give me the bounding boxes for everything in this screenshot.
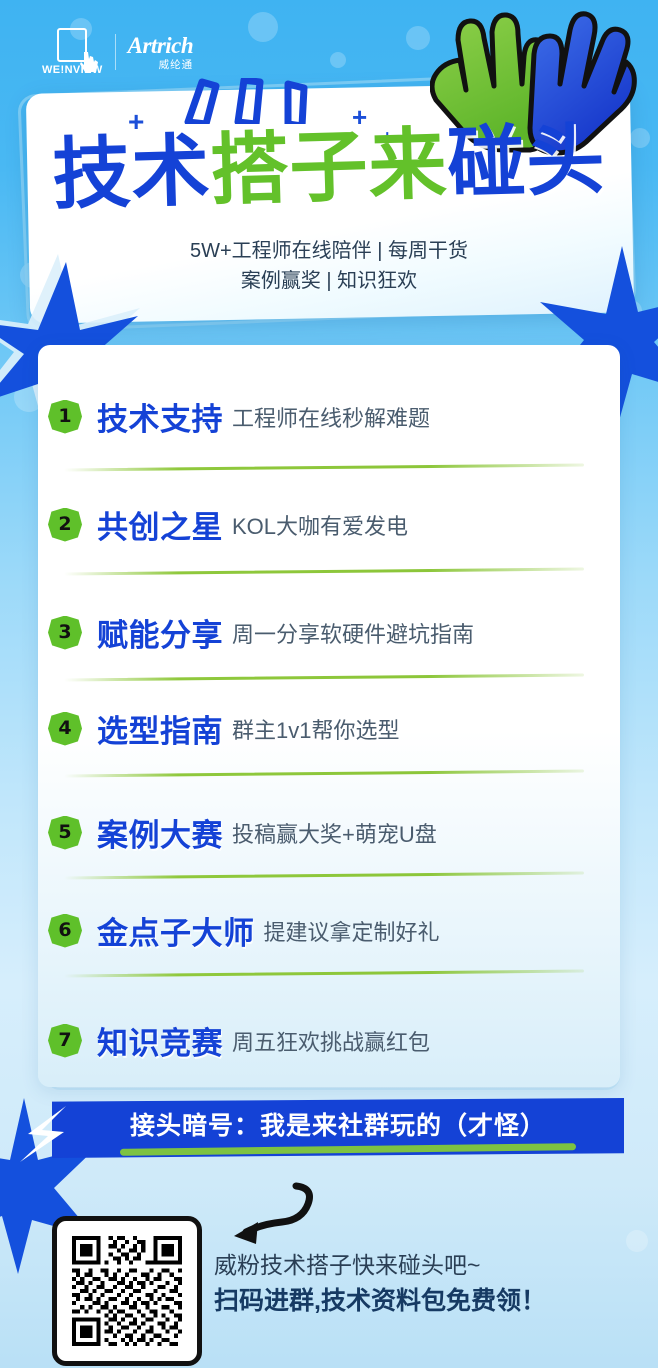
item-number: 5 [58, 823, 71, 842]
sparkle-marks-icon [176, 78, 336, 129]
cta-line-1: 威粉技术搭子快来碰头吧~ [214, 1250, 546, 1281]
item-number-badge: 1 [48, 400, 82, 434]
cta-text-block: 威粉技术搭子快来碰头吧~ 扫码进群,技术资料包免费领！ [214, 1250, 546, 1319]
brand-logo: WE!NVIEW Artrich 威纶通 [42, 28, 193, 76]
item-title: 选型指南 [97, 706, 223, 751]
item-title: 技术支持 [97, 394, 223, 439]
bokeh-dot [330, 52, 346, 68]
list-item[interactable]: 5 案例大赛 投稿赢大奖+萌宠U盘 [0, 810, 582, 855]
subtitle-line-1: 5W+工程师在线陪伴 | 每周干货 [0, 236, 658, 266]
item-title: 共创之星 [97, 502, 223, 547]
qr-code[interactable] [52, 1216, 202, 1366]
subtitle-line-2: 案例赢奖 | 知识狂欢 [0, 266, 658, 296]
item-number-badge: 7 [48, 1024, 82, 1058]
logo-divider [115, 34, 116, 70]
bokeh-dot [626, 1230, 648, 1252]
title-segment-3: 碰头 [446, 115, 606, 207]
item-number: 6 [58, 921, 71, 940]
item-desc: 投稿赢大奖+萌宠U盘 [232, 817, 437, 849]
item-desc: 提建议拿定制好礼 [264, 915, 440, 947]
item-number-badge: 4 [48, 712, 82, 746]
item-desc: 周一分享软硬件避坑指南 [232, 617, 474, 649]
poster-canvas: WE!NVIEW Artrich 威纶通 [0, 0, 658, 1368]
cursor-hand-icon [80, 50, 102, 74]
item-number: 3 [58, 623, 71, 642]
list-item[interactable]: 1 技术支持 工程师在线秒解难题 [0, 394, 582, 439]
list-item[interactable]: 2 共创之星 KOL大咖有爱发电 [0, 502, 582, 547]
item-desc: 周五狂欢挑战赢红包 [232, 1025, 430, 1057]
cta-line-2: 扫码进群,技术资料包免费领！ [214, 1285, 546, 1319]
item-number: 7 [58, 1031, 71, 1050]
item-number-badge: 6 [48, 914, 82, 948]
item-number: 1 [58, 407, 71, 426]
item-title: 知识竞赛 [97, 1018, 223, 1063]
artrich-wordmark: Artrich [128, 34, 194, 57]
lightning-decor-icon [18, 1104, 88, 1169]
bokeh-dot [248, 12, 278, 42]
item-number-badge: 5 [48, 816, 82, 850]
item-number-badge: 2 [48, 508, 82, 542]
artrich-logo: Artrich 威纶通 [128, 34, 194, 71]
hero-subtitle: 5W+工程师在线陪伴 | 每周干货 案例赢奖 | 知识狂欢 [0, 236, 658, 296]
touch-panel-icon [57, 28, 87, 62]
item-title: 赋能分享 [97, 610, 223, 655]
list-item[interactable]: 4 选型指南 群主1v1帮你选型 [0, 706, 582, 751]
page-title: 技术搭子来碰头 [0, 119, 658, 215]
item-title: 金点子大师 [97, 908, 255, 953]
slogan-text: 接头暗号：我是来社群玩的（才怪） [130, 1106, 546, 1142]
qr-code-image [68, 1232, 186, 1350]
item-number-badge: 3 [48, 616, 82, 650]
title-segment-1: 技术 [51, 126, 211, 218]
item-number: 4 [58, 719, 71, 738]
item-number: 2 [58, 515, 71, 534]
list-item[interactable]: 3 赋能分享 周一分享软硬件避坑指南 [0, 610, 582, 655]
item-desc: 工程师在线秒解难题 [232, 401, 430, 433]
item-desc: 群主1v1帮你选型 [232, 713, 399, 745]
weinview-logo: WE!NVIEW [42, 28, 103, 76]
item-title: 案例大赛 [97, 810, 223, 855]
bokeh-dot [406, 26, 430, 50]
list-item[interactable]: 6 金点子大师 提建议拿定制好礼 [0, 908, 582, 953]
list-item[interactable]: 7 知识竞赛 周五狂欢挑战赢红包 [0, 1018, 582, 1063]
title-segment-2: 搭子来 [209, 120, 448, 215]
artrich-chinese-name: 威纶通 [159, 60, 194, 71]
item-desc: KOL大咖有爱发电 [232, 509, 408, 541]
